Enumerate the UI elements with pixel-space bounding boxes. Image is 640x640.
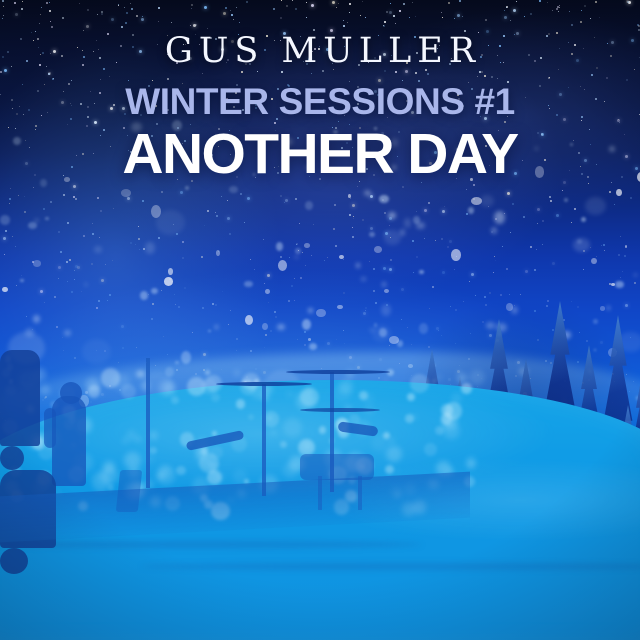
album-title: ANOTHER DAY [0,126,640,183]
artist-name: GUS MULLER [0,34,640,69]
series-label: WINTER SESSIONS #1 [0,83,640,120]
cover-text-block: GUS MULLER WINTER SESSIONS #1 ANOTHER DA… [0,34,640,183]
album-cover: GUS MULLER WINTER SESSIONS #1 ANOTHER DA… [0,0,640,640]
band-overlay [0,350,470,530]
